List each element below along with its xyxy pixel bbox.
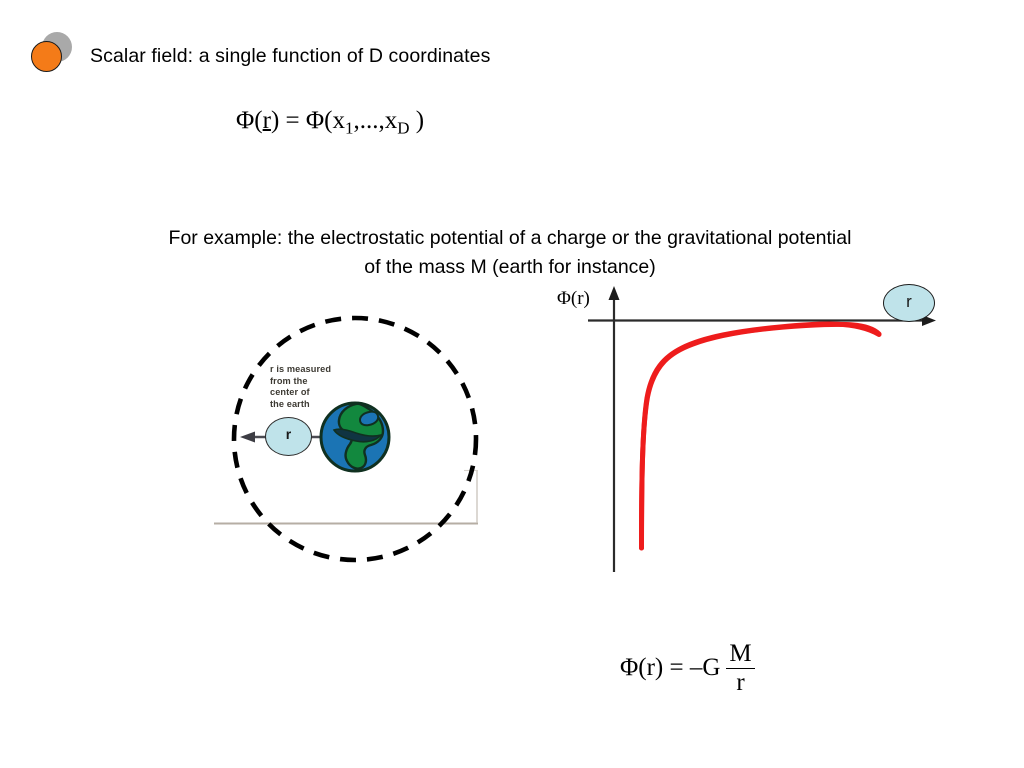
equation-rhs-middle: ,...,x xyxy=(353,107,397,134)
potential-curve-overlay xyxy=(642,324,880,548)
equation-scalar-field: Φ(r) = Φ(x1,...,xD ) xyxy=(236,107,424,139)
radius-annotation-line-4: the earth xyxy=(270,399,331,411)
radius-label-text: r xyxy=(266,426,311,442)
slide-canvas: Scalar field: a single function of D coo… xyxy=(0,0,1024,768)
page-title: Scalar field: a single function of D coo… xyxy=(90,45,490,68)
earth-diagram-svg xyxy=(206,300,496,575)
equation-gravitational-potential: Φ(r) = –G M r xyxy=(620,641,755,696)
fraction-numerator: M xyxy=(726,641,754,667)
x-axis-label-bubble: r xyxy=(883,284,935,322)
radius-annotation-line-3: center of xyxy=(270,387,331,399)
potential-plot: Φ(r) r xyxy=(548,280,948,580)
radius-annotation-text: r is measured from the center of the ear… xyxy=(270,364,331,410)
potential-curve xyxy=(642,324,880,548)
x-axis-label-text: r xyxy=(884,292,934,312)
bullet-orange-circle xyxy=(31,41,62,72)
earth-sea-inset-north xyxy=(360,412,378,426)
fraction-denominator: r xyxy=(733,670,747,696)
example-paragraph: For example: the electrostatic potential… xyxy=(60,224,960,282)
example-paragraph-line-1: For example: the electrostatic potential… xyxy=(60,224,960,253)
equation-lhs-close: ) = xyxy=(271,107,306,134)
y-axis-label: Φ(r) xyxy=(557,288,590,310)
equation-rhs-phi: Φ(x xyxy=(306,107,345,134)
radius-label-bubble: r xyxy=(265,417,312,456)
equation-rhs-subscript-d: D xyxy=(397,119,409,138)
equation-lhs-vector-r: r xyxy=(263,107,271,134)
equation-lhs-phi: Φ( xyxy=(236,107,263,134)
fraction-m-over-r: M r xyxy=(726,641,754,696)
y-axis-arrow-head xyxy=(609,286,620,300)
potential-plot-svg xyxy=(548,280,948,580)
radius-annotation-line-1: r is measured xyxy=(270,364,331,376)
bullet-marker xyxy=(28,32,80,78)
equation-rhs-close: ) xyxy=(410,107,425,134)
equation-bottom-lhs: Φ(r) = –G xyxy=(620,654,720,682)
radius-annotation-line-2: from the xyxy=(270,376,331,388)
earth-diagram: r is measured from the center of the ear… xyxy=(206,300,496,575)
radius-arrow-head xyxy=(240,432,255,443)
example-paragraph-line-2: of the mass M (earth for instance) xyxy=(60,253,960,282)
